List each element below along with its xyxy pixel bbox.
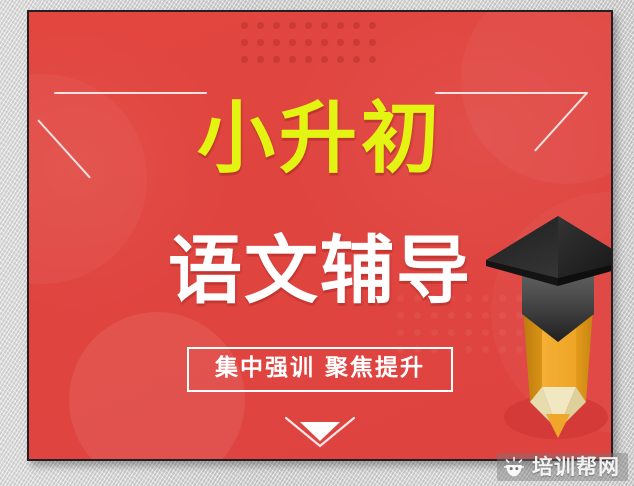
watermark: 培训帮网 [497,453,628,481]
pencil-with-graduation-cap-illustration [484,202,611,452]
subtitle-box: 集中强训 聚焦提升 [187,347,453,392]
poster-canvas: 小升初 语文辅导 集中强训 聚焦提升 [29,12,611,459]
poster-headline-primary: 小升初 [29,100,611,178]
graduation-cap [486,216,611,342]
subtitle-text: 集中强训 聚焦提升 [215,357,425,380]
watermark-text: 培训帮网 [532,457,620,478]
chevron-down-icon [283,415,357,449]
sun-face-icon [503,456,525,478]
poster-image: 小升初 语文辅导 集中强训 聚焦提升 [27,10,613,461]
